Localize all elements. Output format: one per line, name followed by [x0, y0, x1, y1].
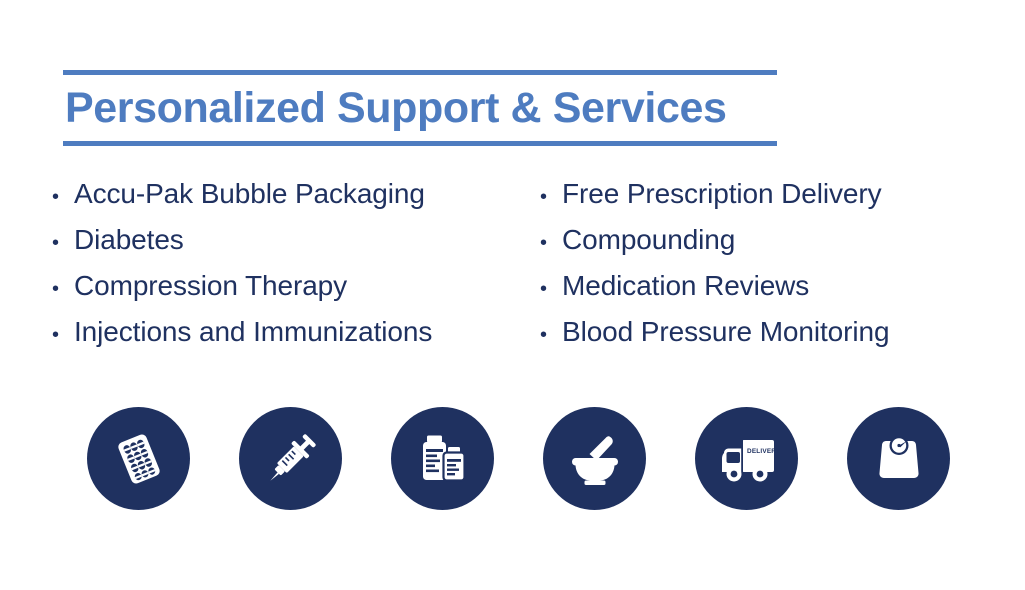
list-item-label: Compression Therapy	[74, 270, 347, 302]
services-column-right: • Free Prescription Delivery • Compoundi…	[540, 178, 1010, 362]
list-item-label: Diabetes	[74, 224, 184, 256]
mortar-and-pestle-icon	[563, 427, 627, 491]
list-item: • Compression Therapy	[52, 270, 536, 316]
list-item: • Accu-Pak Bubble Packaging	[52, 178, 536, 224]
list-item-label: Injections and Immunizations	[74, 316, 432, 348]
icon-badge-blister-pack	[87, 407, 190, 510]
icon-badge-weight-scale	[847, 407, 950, 510]
bullet-marker-icon: •	[52, 187, 74, 207]
list-item-label: Compounding	[562, 224, 735, 256]
list-item: • Free Prescription Delivery	[540, 178, 1010, 224]
title-block: Personalized Support & Services	[63, 70, 777, 146]
services-column-left: • Accu-Pak Bubble Packaging • Diabetes •…	[52, 178, 536, 362]
list-item: • Diabetes	[52, 224, 536, 270]
list-item-label: Medication Reviews	[562, 270, 809, 302]
list-item: • Blood Pressure Monitoring	[540, 316, 1010, 362]
icon-badge-mortar-pestle	[543, 407, 646, 510]
list-item-label: Accu-Pak Bubble Packaging	[74, 178, 425, 210]
list-item: • Injections and Immunizations	[52, 316, 536, 362]
icon-badge-syringe	[239, 407, 342, 510]
bullet-marker-icon: •	[540, 325, 562, 345]
services-list: • Accu-Pak Bubble Packaging • Diabetes •…	[0, 178, 1025, 362]
bullet-marker-icon: •	[540, 187, 562, 207]
slide-canvas: Personalized Support & Services • Accu-P…	[0, 0, 1025, 590]
list-item-label: Free Prescription Delivery	[562, 178, 882, 210]
bullet-marker-icon: •	[52, 325, 74, 345]
list-item: • Compounding	[540, 224, 1010, 270]
list-item: • Medication Reviews	[540, 270, 1010, 316]
pill-bottles-icon	[412, 428, 474, 490]
page-title: Personalized Support & Services	[63, 75, 777, 141]
service-icon-row: DELIVERY	[87, 407, 957, 510]
icon-badge-delivery-truck: DELIVERY	[695, 407, 798, 510]
blister-pack-icon	[108, 428, 170, 490]
weight-scale-icon	[868, 428, 930, 490]
bullet-marker-icon: •	[52, 279, 74, 299]
syringe-icon	[259, 427, 323, 491]
truck-delivery-label: DELIVERY	[747, 448, 780, 455]
bullet-marker-icon: •	[540, 279, 562, 299]
list-item-label: Blood Pressure Monitoring	[562, 316, 889, 348]
bullet-marker-icon: •	[540, 233, 562, 253]
delivery-truck-icon: DELIVERY	[714, 426, 780, 492]
title-rule-bottom	[63, 141, 777, 146]
bullet-marker-icon: •	[52, 233, 74, 253]
icon-badge-pill-bottles	[391, 407, 494, 510]
